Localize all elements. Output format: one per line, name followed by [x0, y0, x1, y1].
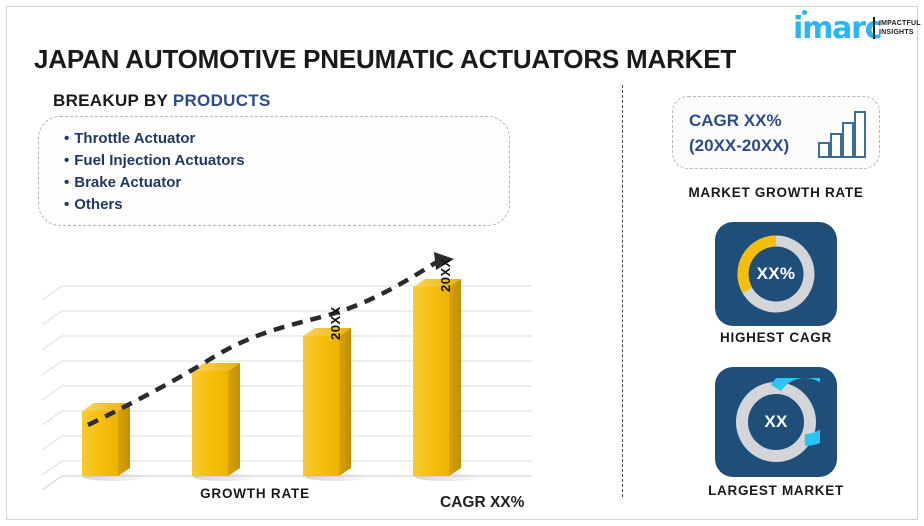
market-growth-rate-label: MARKET GROWTH RATE [646, 185, 906, 200]
logo-wordmark: imarc [793, 14, 881, 44]
trend-line [88, 260, 440, 425]
highest-cagr-card: XX% [715, 222, 837, 326]
bar-label-3: 20XX [328, 306, 343, 340]
logo-divider [873, 17, 875, 39]
bar-label-4: 20XX [438, 258, 453, 292]
page-title: JAPAN AUTOMOTIVE PNEUMATIC ACTUATORS MAR… [34, 44, 736, 75]
breakup-heading: BREAKUP BY PRODUCTS [53, 91, 271, 111]
bar-2 [192, 363, 240, 476]
chart-x-axis-label: GROWTH RATE [40, 486, 470, 501]
logo-tagline-line1: IMPACTFUL [879, 19, 921, 28]
market-growth-rate-card: CAGR XX% (20XX-20XX) [672, 96, 880, 169]
largest-market-card: XX [715, 367, 837, 477]
list-item: •Brake Actuator [64, 172, 245, 194]
list-item-label: Others [74, 196, 122, 213]
imarc-logo: imarc IMPACTFUL INSIGHTS [793, 10, 913, 46]
breakup-heading-prefix: BREAKUP BY [53, 91, 168, 110]
chart-canvas [40, 250, 560, 490]
list-item: •Throttle Actuator [64, 128, 245, 150]
breakup-heading-highlight: PRODUCTS [173, 91, 271, 110]
growth-rate-chart: 20XX 20XX CAGR XX% GROWTH RATE [40, 250, 560, 500]
list-item: •Fuel Injection Actuators [64, 150, 245, 172]
bar-3 [303, 328, 351, 476]
list-item-label: Throttle Actuator [74, 130, 195, 147]
bullet-icon: • [64, 152, 69, 169]
bullet-icon: • [64, 130, 69, 147]
logo-tagline: IMPACTFUL INSIGHTS [879, 19, 921, 37]
breakup-list: •Throttle Actuator •Fuel Injection Actua… [64, 128, 245, 216]
cagr-card-text: CAGR XX% (20XX-20XX) [689, 108, 789, 158]
largest-market-value: XX [715, 367, 837, 477]
cagr-card-line2: (20XX-20XX) [689, 133, 789, 158]
breakup-list-box: •Throttle Actuator •Fuel Injection Actua… [38, 116, 510, 226]
list-item-label: Brake Actuator [74, 174, 181, 191]
logo-tagline-line2: INSIGHTS [879, 28, 921, 37]
list-item: •Others [64, 194, 245, 216]
vertical-divider [622, 85, 623, 497]
highest-cagr-label: HIGHEST CAGR [646, 330, 906, 345]
highest-cagr-value: XX% [715, 222, 837, 326]
bar-chart-icon [818, 110, 866, 163]
bar-4 [413, 279, 461, 476]
list-item-label: Fuel Injection Actuators [74, 152, 244, 169]
infographic-page: imarc IMPACTFUL INSIGHTS JAPAN AUTOMOTIV… [0, 0, 924, 526]
bullet-icon: • [64, 196, 69, 213]
bullet-icon: • [64, 174, 69, 191]
largest-market-label: LARGEST MARKET [646, 483, 906, 498]
cagr-card-line1: CAGR XX% [689, 108, 789, 133]
